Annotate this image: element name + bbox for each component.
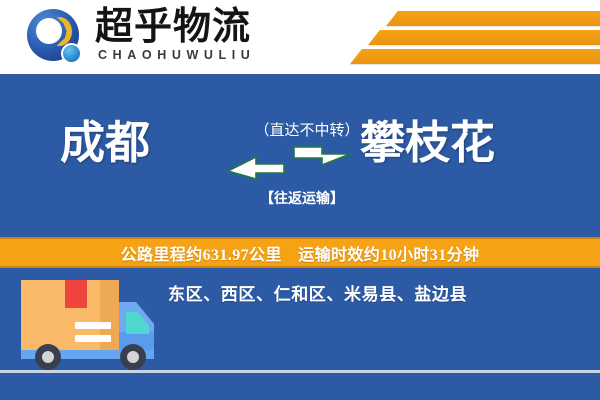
brand-name-en: CHAOHUWULIU: [98, 48, 255, 62]
footer-divider: [0, 370, 600, 373]
truck-label-line-2: [75, 335, 111, 342]
coverage-districts: 东区、西区、仁和区、米易县、盐边县: [168, 280, 467, 305]
round-trip-note: 【往返运输】: [245, 188, 359, 208]
arrow-left-shape: [228, 157, 284, 179]
poster-header: 超乎物流 CHAOHUWULIU: [0, 0, 600, 74]
header-stripe-2: [368, 30, 600, 45]
truck-tape: [65, 280, 87, 308]
logistics-route-poster: 超乎物流 CHAOHUWULIU 成都 攀枝花 （直达不中转） 【往返运输】 公…: [0, 0, 600, 400]
header-stripe-1: [386, 11, 600, 26]
logo-inner-circle: [36, 18, 62, 44]
logo-dot: [61, 43, 82, 64]
truck-hub-rear: [42, 351, 54, 363]
truck-label-line-1: [75, 322, 111, 329]
header-stripe-3: [350, 49, 600, 64]
direct-service-note: （直达不中转）: [250, 119, 364, 140]
distance-duration-banner: 公路里程约631.97公里 运输时效约10小时31分钟: [0, 237, 600, 268]
bidirectional-arrow-icon: [225, 145, 353, 185]
delivery-truck-icon: [18, 272, 162, 372]
brand-name-cn: 超乎物流: [95, 6, 251, 48]
banner-text: 公路里程约631.97公里 运输时效约10小时31分钟: [121, 241, 480, 265]
truck-hub-front: [127, 351, 139, 363]
circle-crescent-logo-icon: [27, 9, 85, 67]
origin-city: 成都: [60, 118, 150, 168]
arrow-right-shape: [294, 147, 350, 165]
destination-city: 攀枝花: [360, 118, 495, 168]
